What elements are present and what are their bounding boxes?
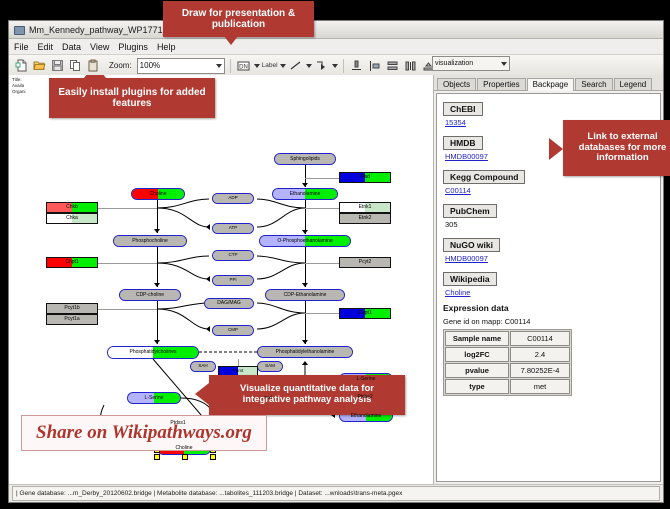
open-folder-icon[interactable] <box>31 58 47 74</box>
callout-links-arrow-icon <box>549 138 563 160</box>
gene-node-chkb[interactable]: Chkb <box>46 202 98 213</box>
distribute-icon[interactable] <box>403 58 419 74</box>
gene-node-etnk1[interactable]: Etnk1 <box>339 202 391 213</box>
arrowhead-icon <box>302 283 308 287</box>
metabolite-node-o-phosphoethanolamine[interactable]: O-Phosphoethanolamine <box>259 235 351 247</box>
node-label: Choline <box>150 192 167 197</box>
connector-icon[interactable] <box>314 58 330 74</box>
node-label: Sphingolipids <box>290 157 320 162</box>
tab-search[interactable]: Search <box>575 78 612 90</box>
align-left-icon[interactable] <box>367 58 383 74</box>
line-icon[interactable] <box>288 58 304 74</box>
edge-ophospho-cdpethanolamine <box>305 247 306 287</box>
gene-node-etnk2[interactable]: Etnk2 <box>339 213 391 224</box>
metabolite-node-dag-mag[interactable]: DAG/MAG <box>204 298 254 309</box>
table-row: log2FC 2.4 <box>445 347 570 362</box>
table-row: pvalue 7.80252E-4 <box>445 363 570 378</box>
line-tool[interactable] <box>288 58 312 74</box>
arrow-tool[interactable] <box>314 58 338 74</box>
canvas-info-line-3: Organi <box>12 89 26 95</box>
db-title-chebi: ChEBI <box>443 102 483 116</box>
arrowhead-icon <box>302 230 308 234</box>
arrowhead-icon <box>302 361 308 365</box>
node-label: ATP <box>229 226 237 231</box>
arrowhead-icon <box>302 340 308 344</box>
arrowhead-icon <box>154 340 160 344</box>
node-label: Ethanolamine <box>290 192 321 197</box>
chevron-down-icon[interactable] <box>306 64 312 68</box>
label-tool[interactable]: Label <box>262 62 286 69</box>
edge-pcyt2-to-reaction <box>305 263 339 264</box>
db-title-wikipedia: Wikipedia <box>443 272 497 286</box>
db-title-pubchem: PubChem <box>443 204 497 218</box>
toolbar-separator <box>230 59 231 73</box>
node-label: CDP-Ethanolamine <box>284 293 327 298</box>
menu-file[interactable]: File <box>14 42 29 52</box>
node-label: Chpt1 <box>65 260 78 265</box>
node-label: CMP <box>228 328 238 333</box>
visualization-value: visualization <box>435 60 473 67</box>
edge-phosphocholine-cdpcholine <box>157 247 158 287</box>
callout-links: Link to external databases for more info… <box>563 120 670 176</box>
datanode-icon[interactable]: DN <box>236 58 252 74</box>
cell-key-pvalue: pvalue <box>445 363 509 378</box>
node-label: Ethanolamine <box>351 414 382 419</box>
gene-node-chpt1[interactable]: Chpt1 <box>46 257 98 268</box>
db-link-nugo[interactable]: HMDB00097 <box>445 254 654 263</box>
cell-value-pvalue: 7.80252E-4 <box>510 363 570 378</box>
gene-node-pisd[interactable]: Pisd <box>339 172 391 183</box>
metabolite-node-sphingolipids[interactable]: Sphingolipids <box>274 153 336 165</box>
node-label: Pcyt1b <box>64 306 79 311</box>
tab-properties[interactable]: Properties <box>477 78 525 90</box>
menu-edit[interactable]: Edit <box>38 42 54 52</box>
cell-key-type: type <box>445 379 509 394</box>
save-icon[interactable] <box>49 58 65 74</box>
paste-icon[interactable] <box>85 58 101 74</box>
metabolite-node-choline[interactable]: Choline <box>131 188 185 200</box>
chevron-down-icon[interactable] <box>280 64 286 68</box>
metabolite-node-cmp[interactable]: CMP <box>212 325 254 336</box>
new-file-icon[interactable] <box>13 58 29 74</box>
metabolite-node-cdp-ethanolamine[interactable]: CDP-Ethanolamine <box>265 289 345 301</box>
menu-data[interactable]: Data <box>62 42 81 52</box>
pathway-canvas[interactable]: Title: Availa Organi <box>9 75 434 484</box>
node-label: Ptdss2 <box>357 395 372 400</box>
tab-backpage[interactable]: Backpage <box>527 78 575 91</box>
metabolite-node-sah[interactable]: SAH <box>190 361 216 372</box>
chevron-down-icon[interactable] <box>332 64 338 68</box>
selection-handle[interactable] <box>182 454 188 460</box>
callout-links-text: Link to external databases for more info… <box>571 132 670 165</box>
window-titlebar: Mm_Kennedy_pathway_WP1771_45176.gpml <box>9 21 663 39</box>
node-label: PPi <box>229 278 236 283</box>
callout-plugins: Easily install plugins for added feature… <box>49 78 215 118</box>
node-label: Psd <box>264 396 272 401</box>
menu-plugins[interactable]: Plugins <box>118 42 148 52</box>
gene-node-cept1[interactable]: Cept1 <box>339 308 391 319</box>
metabolite-node-ethanolamine[interactable]: Ethanolamine <box>272 188 338 200</box>
node-label: Choline <box>176 446 193 451</box>
selection-handle[interactable] <box>154 454 160 460</box>
toolbar-separator <box>343 59 344 73</box>
gene-id-line: Gene id on mapp: C00114 <box>443 317 654 326</box>
node-label: O-Phosphoethanolamine <box>277 239 332 244</box>
node-label: Pcyt1a <box>64 317 79 322</box>
node-label: DAG/MAG <box>217 301 241 306</box>
node-label: Etnk1 <box>359 205 372 210</box>
gene-node-chka[interactable]: Chka <box>46 213 98 224</box>
db-link-kegg[interactable]: C00114 <box>445 186 654 195</box>
node-label: Pemt <box>233 369 244 374</box>
screenshot-root: Mm_Kennedy_pathway_WP1771_45176.gpml Fil… <box>0 0 670 509</box>
copy-icon[interactable] <box>67 58 83 74</box>
node-label: Chka <box>66 216 78 221</box>
node-label: L-Serine <box>357 377 376 382</box>
edge-cdpcholine-ptdcholine <box>157 301 158 344</box>
edge-cdpeth-ptdethanolamine <box>305 301 306 344</box>
visualization-combobox[interactable]: visualization <box>432 56 510 71</box>
zoom-value: 100% <box>140 61 160 70</box>
node-label: ADP <box>228 196 237 201</box>
node-label: CTP <box>229 253 238 258</box>
node-label: Phosphatidylethanolamine <box>276 350 335 355</box>
db-title-nugo: NuGO wiki <box>443 238 500 252</box>
callout-draw-arrow-icon <box>220 31 242 45</box>
node-label: Ptdss1 <box>170 421 185 426</box>
arrowhead-icon <box>154 283 160 287</box>
selection-handle[interactable] <box>210 454 216 460</box>
metabolite-node-cdp-choline[interactable]: CDP-choline <box>119 289 181 301</box>
db-section-nugo: NuGO wiki HMDB00097 <box>443 235 654 263</box>
canvas-info-text: Title: Availa Organi <box>12 77 26 95</box>
callout-draw-text: Draw for presentation & publication <box>171 8 306 31</box>
cell-key-log2fc: log2FC <box>445 347 509 362</box>
tab-objects[interactable]: Objects <box>437 78 476 90</box>
label-tool-label: Label <box>262 62 278 69</box>
db-section-wikipedia: Wikipedia Choline <box>443 269 654 297</box>
table-row: type met <box>445 379 570 394</box>
arrowhead-icon <box>206 224 210 230</box>
edge-chk-to-reaction <box>98 208 157 209</box>
gene-node-pcyt1a[interactable]: Pcyt1a <box>46 314 98 325</box>
callout-visualize: Visualize quantitative data for integrat… <box>209 375 405 415</box>
callout-plugins-text: Easily install plugins for added feature… <box>57 87 207 110</box>
edge-pcyt1-to-reaction <box>98 309 157 310</box>
node-label: CDP-choline <box>136 293 164 298</box>
expression-table: Sample name C00114 log2FC 2.4 pvalue 7.8… <box>443 329 572 396</box>
metabolite-node-adp[interactable]: ADP <box>212 193 254 204</box>
share-callout-text: Share on Wikipathways.org <box>36 422 252 443</box>
table-row: Sample name C00114 <box>445 331 570 346</box>
node-label: Phosphatidylcholines <box>130 350 177 355</box>
chevron-down-icon[interactable] <box>254 64 260 68</box>
stack-icon[interactable] <box>385 58 401 74</box>
node-label: Phosphocholine <box>132 239 168 244</box>
metabolite-node-phosphocholine[interactable]: Phosphocholine <box>113 235 187 247</box>
db-link-wikipedia[interactable]: Choline <box>445 288 654 297</box>
edge-chpt1-to-reaction <box>98 263 157 264</box>
chevron-down-icon <box>501 62 507 66</box>
edge-etnk-to-reaction <box>305 208 339 209</box>
menubar: File Edit Data View Plugins Help <box>9 39 663 55</box>
arrowhead-icon <box>154 229 160 233</box>
metabolite-node-phosphatidylcholines[interactable]: Phosphatidylcholines <box>107 346 199 359</box>
cell-key-sample-name: Sample name <box>445 331 509 346</box>
chevron-down-icon <box>216 64 222 68</box>
node-label: Cept1 <box>358 311 371 316</box>
node-label: L-Serine <box>145 396 164 401</box>
db-title-kegg: Kegg Compound <box>443 170 525 184</box>
cell-value-sample-name: C00114 <box>510 331 570 346</box>
callout-plugins-arrow-icon <box>84 75 106 78</box>
side-panel-tabs: Objects Properties Backpage Search Legen… <box>434 75 663 91</box>
node-label: Pisd <box>360 175 370 180</box>
metabolite-node-phosphatidylethanolamine[interactable]: Phosphatidylethanolamine <box>257 346 353 358</box>
node-label: Chkb <box>66 205 78 210</box>
node-label: SAM <box>265 364 275 369</box>
db-title-hmdb: HMDB <box>443 136 483 150</box>
arrowhead-icon <box>206 326 210 332</box>
menu-view[interactable]: View <box>90 42 109 52</box>
edge-ethanolamine-ophospho <box>305 200 306 234</box>
zoom-label: Zoom: <box>109 61 132 70</box>
metabolite-node-ppi[interactable]: PPi <box>212 275 254 286</box>
db-value-pubchem: 305 <box>445 220 654 229</box>
toolbar: Zoom: 100% DN Label <box>9 55 663 77</box>
expression-data-heading: Expression data <box>443 303 654 313</box>
gene-node-pcyt1b[interactable]: Pcyt1b <box>46 303 98 314</box>
node-label: Pcyt2 <box>359 260 372 265</box>
metabolite-node-atp[interactable]: ATP <box>212 223 254 234</box>
align-bottom-icon[interactable] <box>349 58 365 74</box>
db-section-pubchem: PubChem 305 <box>443 201 654 229</box>
gene-node-pcyt2[interactable]: Pcyt2 <box>339 257 391 268</box>
menu-help[interactable]: Help <box>157 42 176 52</box>
edge-pisd-to-reaction <box>305 178 339 179</box>
svg-text:DN: DN <box>239 64 248 70</box>
node-label: SAH <box>198 364 207 369</box>
metabolite-node-sam[interactable]: SAM <box>257 361 283 372</box>
pathvisio-window: Mm_Kennedy_pathway_WP1771_45176.gpml Fil… <box>8 20 664 503</box>
arrowhead-icon <box>206 276 210 282</box>
zoom-combobox[interactable]: 100% <box>137 58 225 74</box>
datanode-tool[interactable]: DN <box>236 58 260 74</box>
metabolite-node-ctp[interactable]: CTP <box>212 250 254 261</box>
tab-legend[interactable]: Legend <box>614 78 653 90</box>
arrowhead-icon <box>302 183 308 187</box>
app-icon <box>13 24 24 35</box>
cell-value-type: met <box>510 379 570 394</box>
cell-value-log2fc: 2.4 <box>510 347 570 362</box>
statusbar-text: | Gene database: ...m_Derby_20120602.bri… <box>12 486 660 501</box>
metabolite-node-l-serine[interactable]: L-Serine <box>127 392 181 404</box>
statusbar: | Gene database: ...m_Derby_20120602.bri… <box>9 484 663 502</box>
edge-cept1-to-reaction <box>305 313 339 314</box>
callout-visualize-arrow-icon <box>195 383 209 405</box>
node-label: Etnk2 <box>359 216 372 221</box>
share-callout: Share on Wikipathways.org <box>21 415 267 451</box>
